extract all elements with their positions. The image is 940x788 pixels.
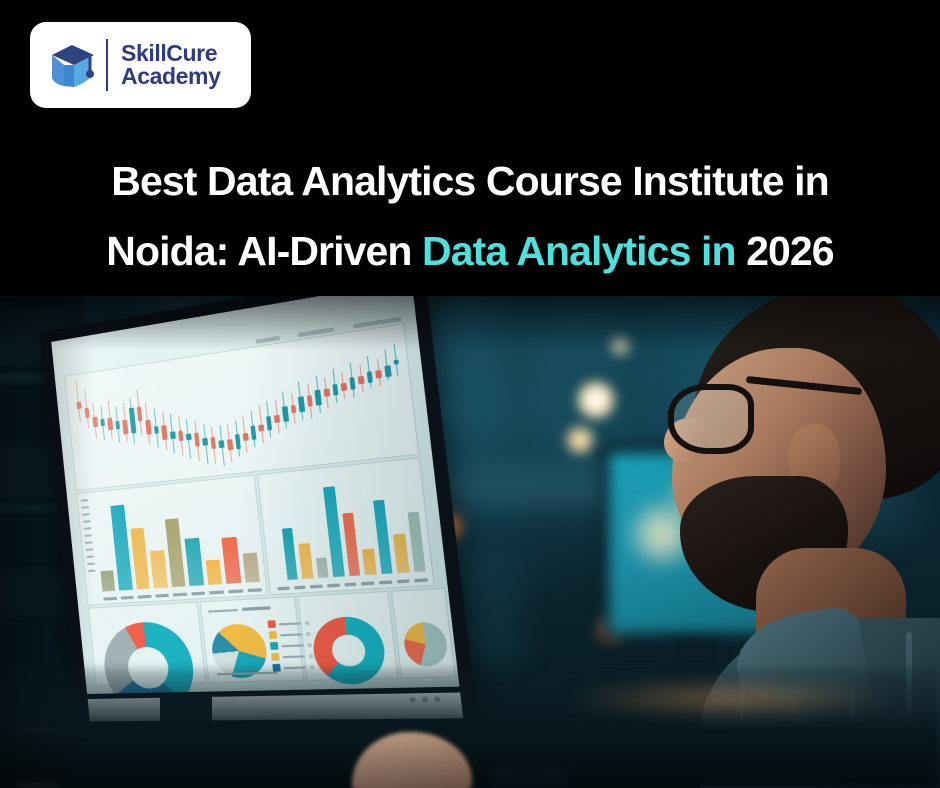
bar	[407, 511, 426, 572]
bar	[111, 505, 133, 591]
poster-root: SkillCure Academy Best Data Analytics Co…	[0, 0, 940, 788]
logo-divider	[106, 39, 108, 91]
monitor-screen[interactable]	[51, 296, 459, 694]
bar	[393, 533, 409, 573]
headline-prefix: Noida: AI-Driven	[106, 228, 422, 274]
bar	[205, 559, 222, 585]
pie-panel-rule	[208, 609, 238, 613]
brand-name-line1: SkillCure	[121, 42, 220, 65]
headline-suffix: 2026	[736, 228, 834, 274]
headline-line-2: Noida: AI-Driven Data Analytics in 2026	[26, 216, 914, 286]
bar-series-left	[93, 485, 260, 592]
shelf-books	[0, 570, 70, 616]
eyeglasses-icon	[668, 384, 754, 454]
bar	[130, 527, 150, 589]
bar	[221, 537, 240, 584]
candlestick-plot	[73, 332, 409, 481]
desk-warm-light	[560, 680, 900, 716]
bar	[150, 550, 168, 588]
bar	[362, 548, 376, 575]
brand-name-line2: Academy	[121, 65, 220, 88]
dashboard-bar-panel-right	[257, 457, 435, 595]
bar	[242, 553, 260, 583]
bar	[165, 519, 186, 588]
graduation-cap-icon	[44, 37, 100, 93]
brand-name: SkillCure Academy	[121, 42, 220, 89]
headline-accent: Data Analytics in	[422, 228, 736, 274]
bar	[101, 571, 116, 592]
headline-line-1: Best Data Analytics Course Institute in	[26, 146, 914, 216]
bar	[373, 500, 393, 574]
analytics-dashboard	[51, 296, 459, 694]
bar	[282, 528, 298, 580]
hero-photo	[0, 296, 940, 788]
page-title: Best Data Analytics Course Institute in …	[0, 146, 940, 286]
bar-series-right	[277, 468, 426, 580]
brand-logo[interactable]: SkillCure Academy	[30, 22, 251, 108]
bar	[185, 538, 204, 586]
bar	[316, 557, 329, 578]
main-monitor	[40, 296, 479, 731]
dashboard-bar-panel-left	[76, 474, 268, 605]
pie-chart	[402, 622, 449, 667]
bar	[342, 513, 360, 576]
pie-panel-title	[242, 606, 271, 611]
header-band: SkillCure Academy Best Data Analytics Co…	[0, 0, 940, 296]
dashboard-mini-pie	[391, 588, 456, 679]
x-axis-category-labels	[277, 578, 428, 590]
computer-mouse	[490, 762, 568, 788]
bar	[299, 543, 314, 579]
